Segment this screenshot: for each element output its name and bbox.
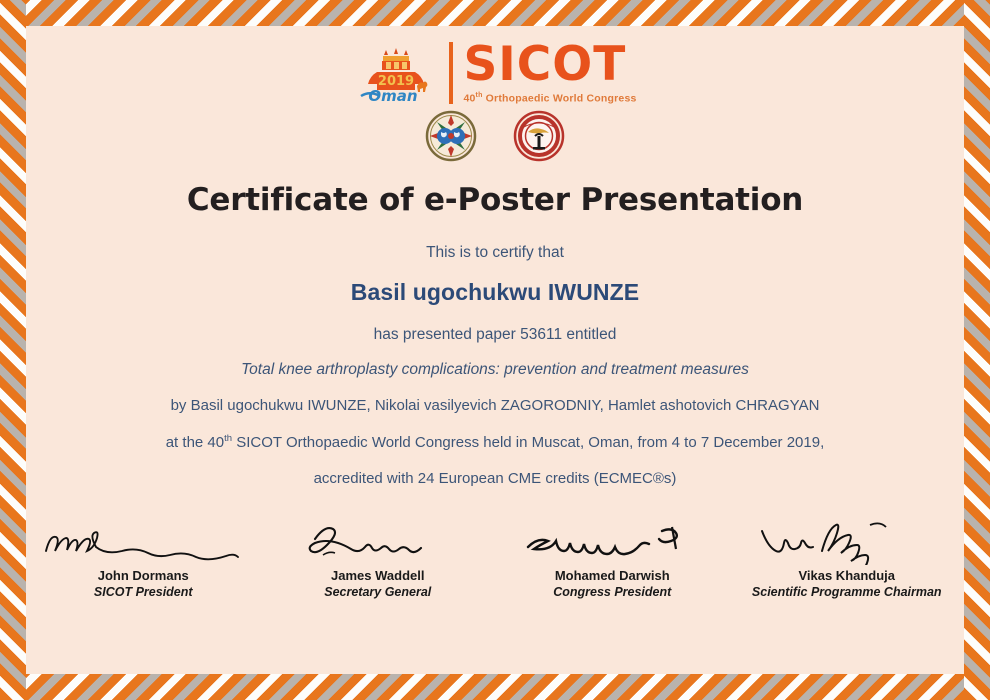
signatory-role: Secretary General [324, 585, 431, 599]
sicot-logo-subtitle: 40th Orthopaedic World Congress [463, 92, 636, 104]
signatory-name: John Dormans [98, 568, 189, 583]
sicot-logo-text: SICOT [463, 42, 626, 88]
cme-credits-line: accredited with 24 European CME credits … [314, 470, 677, 487]
recipient-name: Basil ugochukwu IWUNZE [351, 279, 639, 306]
logo-row: 2019 Oman SICOT 40th Orthopaedic World C… [353, 42, 636, 104]
border-top-chevron [0, 0, 990, 26]
emblem-row [425, 110, 565, 162]
signatory-name: Vikas Khanduja [798, 568, 895, 583]
signature-row: John Dormans SICOT President James Wadde… [26, 517, 964, 599]
paper-reference-line: has presented paper 53611 entitled [374, 326, 617, 344]
certificate-content: 2019 Oman SICOT 40th Orthopaedic World C… [26, 26, 964, 674]
sicot-wordmark: SICOT 40th Orthopaedic World Congress [449, 42, 636, 103]
signatory-role: Scientific Programme Chairman [752, 585, 942, 599]
oman-orthopaedic-association-emblem-icon [513, 110, 565, 162]
signatory-name: James Waddell [331, 568, 424, 583]
paper-title: Total knee arthroplasty complications: p… [241, 361, 749, 379]
signature-block: James Waddell Secretary General [270, 517, 485, 599]
signatory-role: SICOT President [94, 585, 193, 599]
signature-block: Mohamed Darwish Congress President [505, 517, 720, 599]
signatory-name: Mohamed Darwish [555, 568, 670, 583]
border-right-chevron [964, 0, 990, 700]
border-bottom-chevron [0, 674, 990, 700]
sicot-seal-emblem-icon [425, 110, 477, 162]
signature-block: John Dormans SICOT President [36, 517, 251, 599]
signature-mark-john-dormans [38, 517, 248, 565]
signature-mark-mohamed-darwish [522, 517, 702, 565]
signature-block: Vikas Khanduja Scientific Programme Chai… [739, 517, 954, 599]
svg-text:Oman: Oman [369, 87, 418, 104]
certificate-page: 2019 Oman SICOT 40th Orthopaedic World C… [0, 0, 990, 700]
signatory-role: Congress President [553, 585, 671, 599]
signature-mark-james-waddell [293, 517, 463, 565]
authors-line: by Basil ugochukwu IWUNZE, Nikolai vasil… [171, 397, 820, 414]
certificate-title: Certificate of e-Poster Presentation [187, 182, 803, 218]
venue-line: at the 40th SICOT Orthopaedic World Cong… [166, 433, 825, 451]
certify-line: This is to certify that [426, 244, 564, 262]
border-left-chevron [0, 0, 26, 700]
oman-2019-logo-icon: 2019 Oman [353, 42, 439, 104]
signature-mark-vikas-khanduja [752, 517, 942, 565]
